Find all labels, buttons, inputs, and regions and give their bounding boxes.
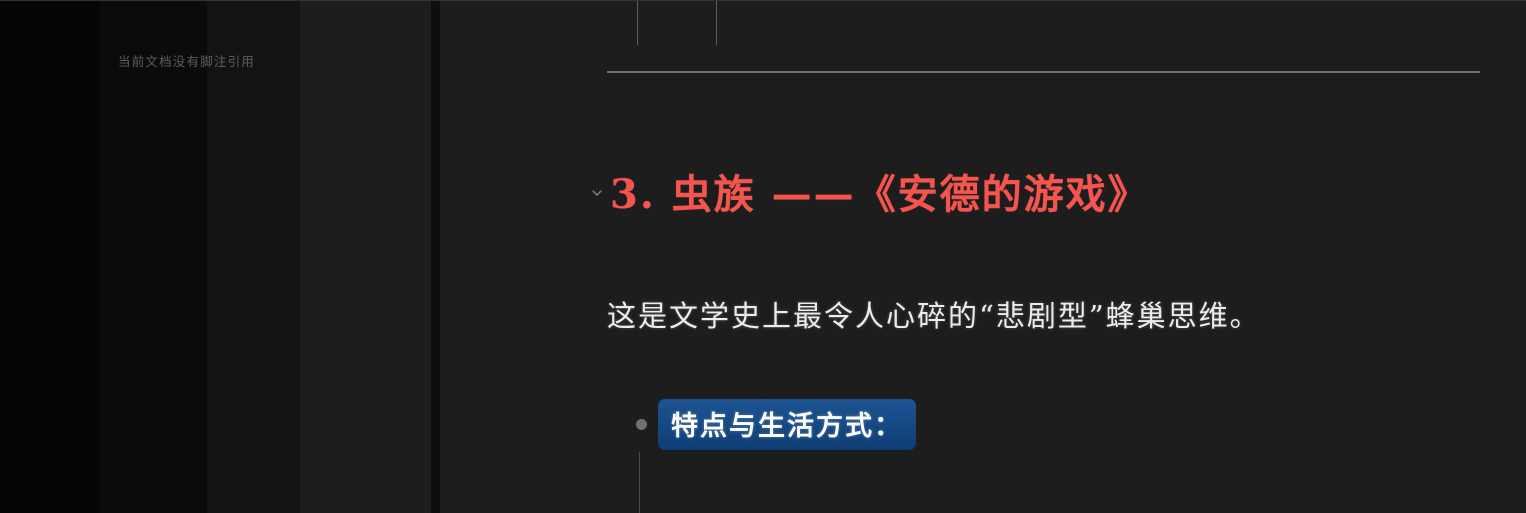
- horizontal-rule: [607, 71, 1480, 73]
- heading-block[interactable]: 3. 虫族 ——《安德的游戏》: [588, 160, 1150, 222]
- panel-gutter: [300, 0, 431, 513]
- document-editor-window: 当前文档没有脚注引用 3. 虫族 ——《安德的游戏》 这是文学史上最令人心碎的“…: [0, 0, 1526, 513]
- footnote-empty-message: 当前文档没有脚注引用: [118, 51, 255, 70]
- navigation-panel[interactable]: [100, 0, 207, 513]
- bullet-dot-icon: [636, 419, 647, 430]
- list-item[interactable]: 特点与生活方式：: [636, 400, 916, 448]
- document-canvas[interactable]: 3. 虫族 ——《安德的游戏》 这是文学史上最令人心碎的“悲剧型”蜂巢思维。 特…: [440, 0, 1526, 513]
- footnote-panel[interactable]: [207, 0, 300, 513]
- chevron-down-icon[interactable]: [588, 184, 606, 202]
- window-top-border: [0, 0, 1526, 1]
- body-paragraph[interactable]: 这是文学史上最令人心碎的“悲剧型”蜂巢思维。: [607, 293, 1261, 335]
- outline-rail[interactable]: [0, 0, 100, 513]
- page-title[interactable]: 3. 虫族 ——《安德的游戏》: [610, 162, 1150, 220]
- list-item-label[interactable]: 特点与生活方式：: [658, 399, 916, 450]
- indent-guide-line: [639, 452, 640, 513]
- table-cell-border-right: [716, 0, 717, 45]
- panel-edge-divider[interactable]: [431, 0, 440, 513]
- table-cell-border-left: [637, 0, 638, 45]
